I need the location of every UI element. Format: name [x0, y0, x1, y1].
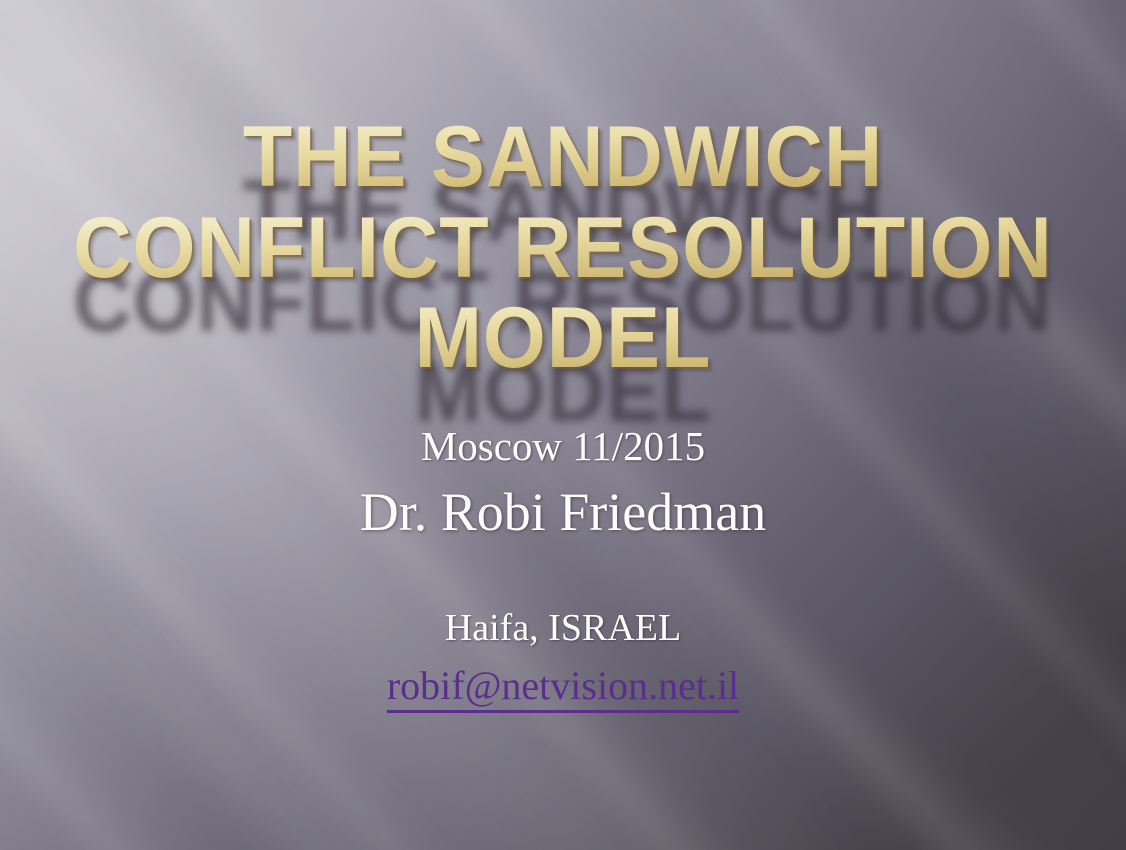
- title-line-1: THE SANDWICH THE SANDWICH: [34, 116, 1092, 199]
- presenter-email-row: robif@netvision.net.il: [0, 664, 1126, 713]
- title-line-2: CONFLICT RESOLUTION CONFLICT RESOLUTION: [34, 207, 1092, 290]
- title-slide: THE SANDWICH THE SANDWICH CONFLICT RESOL…: [0, 0, 1126, 850]
- presenter-name: Dr. Robi Friedman: [0, 482, 1126, 542]
- title-line-3-text: MODEL: [34, 297, 1092, 380]
- presenter-city: Haifa, ISRAEL: [0, 608, 1126, 650]
- presenter-email-link[interactable]: robif@netvision.net.il: [387, 664, 739, 713]
- slide-title: THE SANDWICH THE SANDWICH CONFLICT RESOL…: [0, 116, 1126, 380]
- slide-content: THE SANDWICH THE SANDWICH CONFLICT RESOL…: [0, 0, 1126, 850]
- event-location-date: Moscow 11/2015: [0, 424, 1126, 469]
- title-line-1-text: THE SANDWICH: [34, 116, 1092, 199]
- title-line-3: MODEL MODEL: [34, 297, 1092, 380]
- title-line-2-text: CONFLICT RESOLUTION: [34, 207, 1092, 290]
